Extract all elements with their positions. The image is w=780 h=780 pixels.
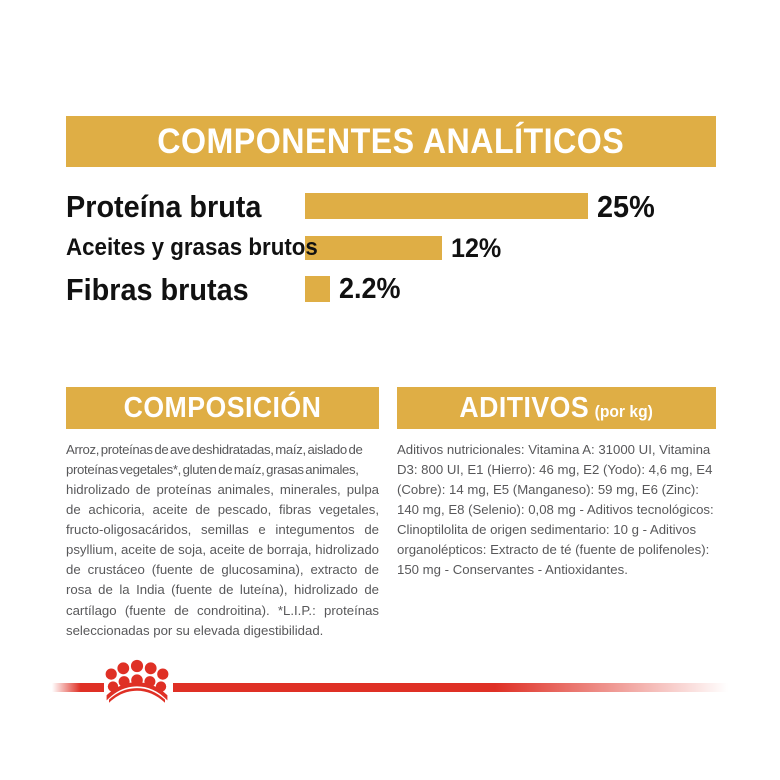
chart-bar-wrap: 25% [305, 191, 716, 222]
chart-bar-wrap: 12% [305, 235, 716, 262]
nutrition-panel: COMPONENTES ANALÍTICOS Proteína bruta 25… [0, 0, 780, 780]
chart-bar-fibre [305, 276, 330, 302]
chart-row: Fibras brutas 2.2% [66, 270, 716, 308]
chart-value-protein: 25% [597, 191, 655, 222]
chart-label-fats: Aceites y grasas brutos [66, 236, 288, 260]
composition-line-2: proteínas vegetales*, gluten de maíz, gr… [66, 460, 379, 480]
additives-text: Aditivos nutricionales: Vitamina A: 3100… [397, 440, 716, 580]
composition-header: COMPOSICIÓN [66, 387, 379, 429]
chart-bar-fats [305, 236, 442, 260]
chart-value-fibre: 2.2% [339, 275, 400, 304]
royal-canin-crown-icon [104, 657, 170, 703]
analytical-components-header: COMPONENTES ANALÍTICOS [66, 116, 716, 167]
additives-title: ADITIVOS [460, 394, 590, 423]
chart-row: Proteína bruta 25% [66, 186, 716, 226]
footer-rule-left [52, 683, 104, 692]
chart-bar-protein [305, 193, 588, 219]
additives-subtitle: (por kg) [595, 403, 653, 420]
chart-row: Aceites y grasas brutos 12% [66, 230, 716, 266]
chart-bar-wrap: 2.2% [305, 275, 716, 304]
composition-line-rest: hidrolizado de proteínas animales, miner… [66, 482, 379, 637]
composition-line-1: Arroz, proteínas de ave deshidratadas, m… [66, 440, 379, 460]
footer-logo-bar [0, 655, 780, 715]
chart-value-fats: 12% [451, 235, 501, 262]
analytical-components-chart: Proteína bruta 25% Aceites y grasas brut… [66, 180, 716, 310]
additives-header: ADITIVOS(por kg) [397, 387, 716, 429]
composition-title: COMPOSICIÓN [124, 394, 322, 423]
footer-rule-right [173, 683, 728, 692]
composition-text: Arroz, proteínas de ave deshidratadas, m… [66, 440, 379, 641]
analytical-components-title: COMPONENTES ANALÍTICOS [158, 124, 625, 159]
chart-label-fibre: Fibras brutas [66, 274, 288, 305]
chart-label-protein: Proteína bruta [66, 191, 288, 222]
additives-title-group: ADITIVOS(por kg) [460, 394, 653, 423]
